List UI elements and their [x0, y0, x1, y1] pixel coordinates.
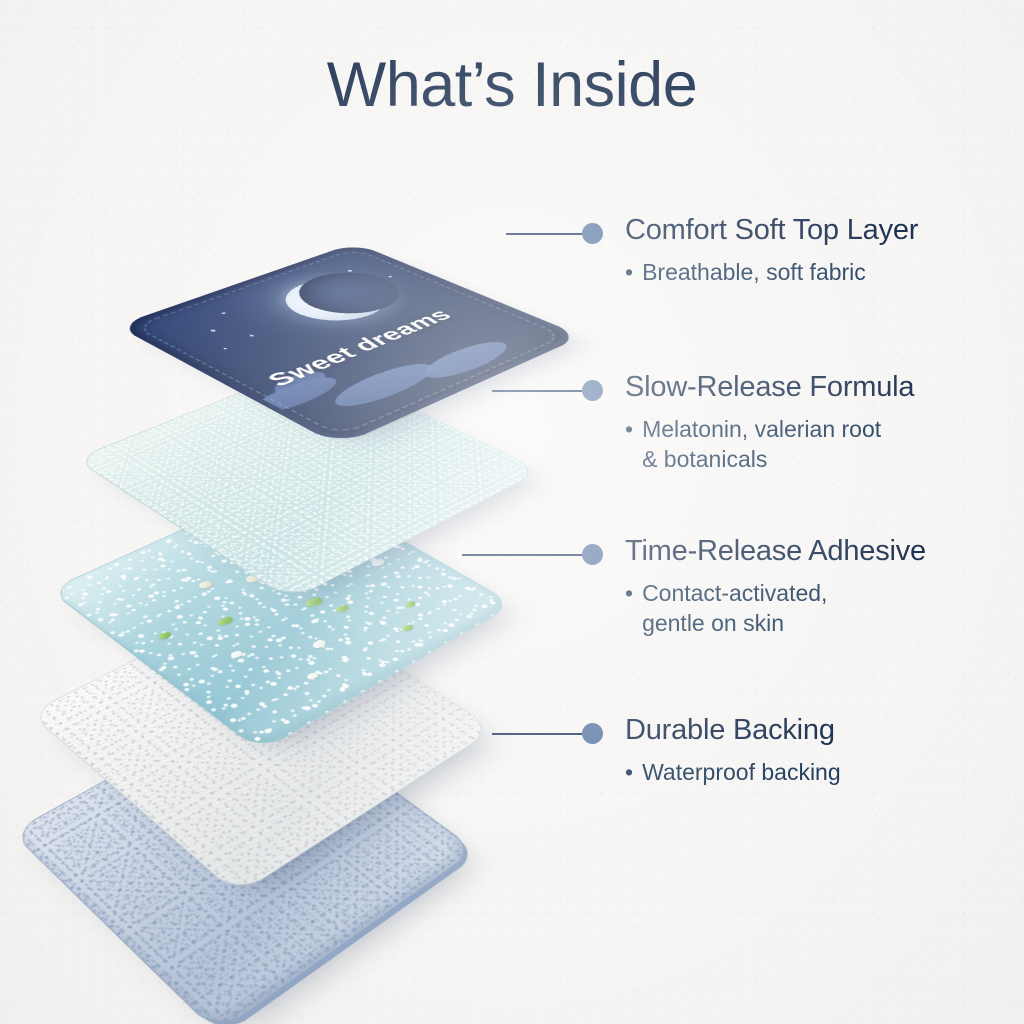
leader-line-1 [506, 233, 582, 235]
cloud-icon [413, 337, 519, 383]
callout-time-release-adhesive[interactable]: Time-Release Adhesive • Contact-activate… [625, 535, 926, 639]
mineral-flake-icon [311, 639, 329, 650]
leader-dot-4 [582, 723, 603, 744]
infographic-page: What’s Inside [0, 0, 1024, 1024]
callout-bullet: • Melatonin, valerian root & botanicals [625, 415, 914, 475]
leader-dot-2 [582, 380, 603, 401]
bullet-marker: • [625, 258, 633, 288]
botanical-flake-icon [157, 631, 173, 641]
leader-line-2 [492, 390, 582, 392]
exploded-layer-stack: ✦ ✦ ✦ ✦ ✦ ✦ ✦ Sweet dreams [55, 160, 575, 860]
callout-title: Time-Release Adhesive [625, 535, 926, 568]
bullet-text: Waterproof backing [642, 758, 841, 788]
callout-title: Comfort Soft Top Layer [625, 214, 918, 247]
callout-bullet: • Contact-activated, gentle on skin [625, 579, 926, 639]
botanical-flake-icon [335, 604, 352, 614]
callout-comfort-soft-top-layer[interactable]: Comfort Soft Top Layer • Breathable, sof… [625, 214, 918, 288]
bullet-marker: • [625, 758, 633, 788]
cloud-icon [323, 358, 445, 412]
callout-bullet: • Breathable, soft fabric [625, 258, 918, 288]
botanical-flake-icon [303, 596, 325, 609]
callout-title: Slow-Release Formula [625, 371, 914, 404]
bullet-marker: • [625, 579, 633, 639]
callout-bullet: • Waterproof backing [625, 758, 841, 788]
bullet-marker: • [625, 415, 633, 475]
mineral-flake-icon [305, 671, 320, 680]
leader-line-4 [492, 733, 582, 735]
cloud-icon [267, 368, 333, 397]
bullet-text: Contact-activated, gentle on skin [642, 579, 827, 639]
callout-slow-release-formula[interactable]: Slow-Release Formula • Melatonin, valeri… [625, 371, 914, 475]
mineral-flake-icon [229, 650, 245, 660]
bullet-text: Melatonin, valerian root & botanicals [642, 415, 881, 475]
star-icon: ✦ [221, 347, 232, 352]
botanical-flake-icon [401, 624, 416, 633]
bullet-text: Breathable, soft fabric [642, 258, 866, 288]
callout-title: Durable Backing [625, 714, 841, 747]
page-title: What’s Inside [0, 52, 1024, 118]
star-icon: ✦ [246, 333, 258, 338]
botanical-flake-icon [403, 600, 417, 608]
leader-line-3 [462, 554, 582, 556]
botanical-flake-icon [215, 616, 235, 627]
leader-dot-1 [582, 223, 603, 244]
callout-durable-backing[interactable]: Durable Backing • Waterproof backing [625, 714, 841, 788]
leader-dot-3 [582, 544, 603, 565]
